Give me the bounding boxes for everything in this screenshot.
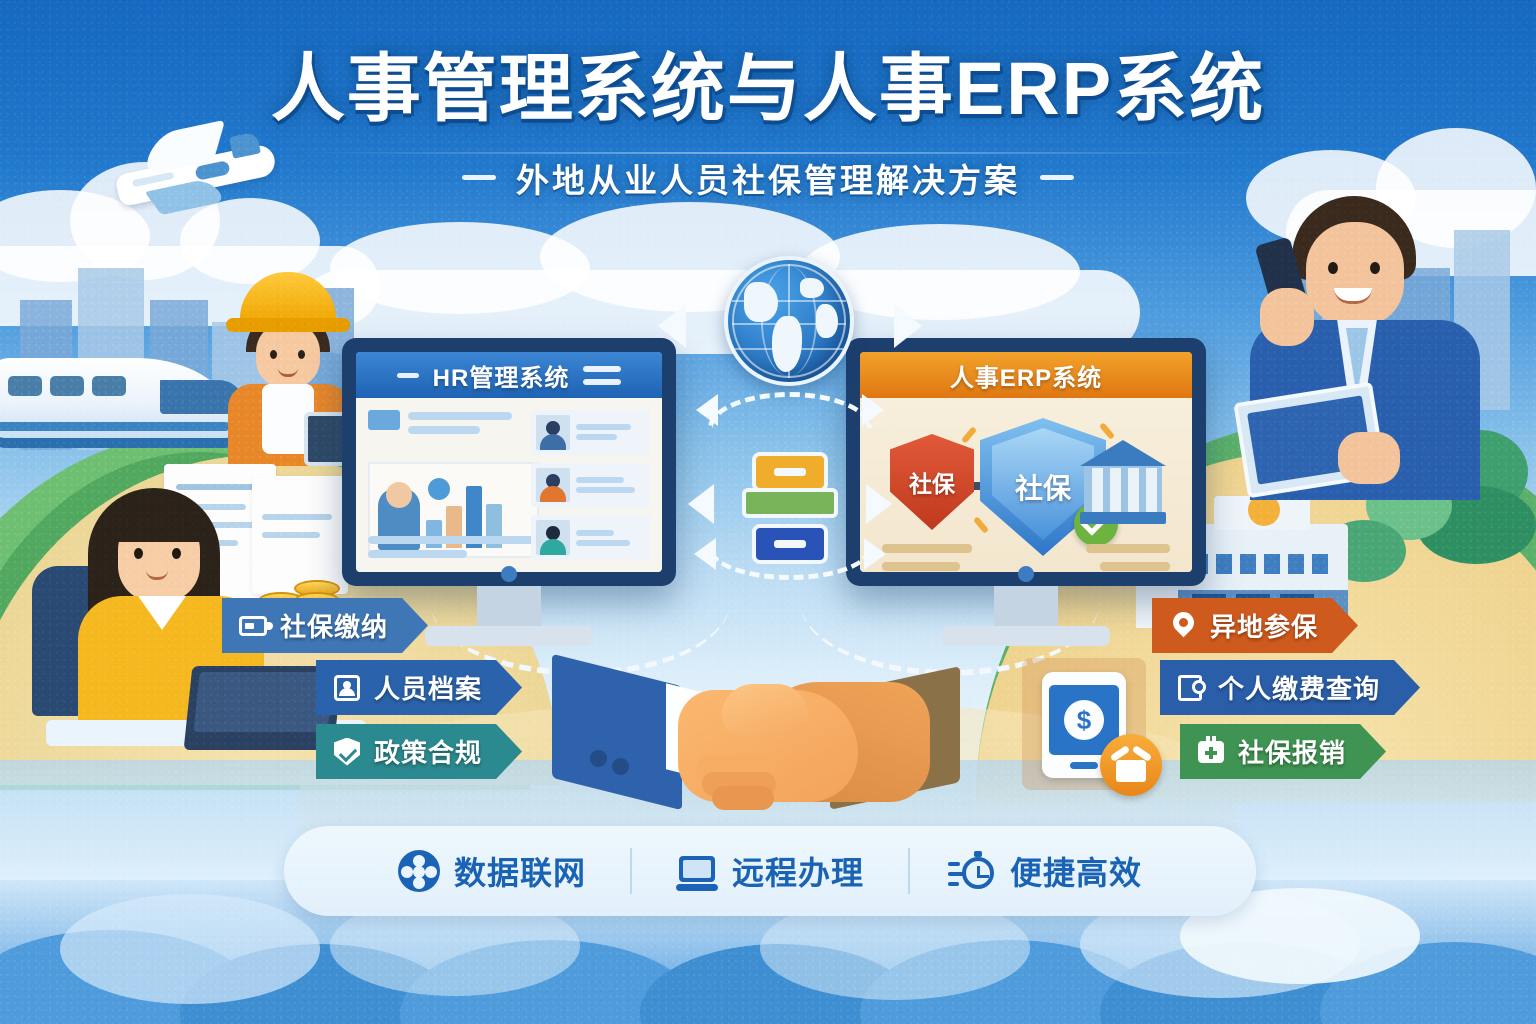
arrow-left-icon [658, 304, 686, 348]
delivery-badge-icon [1100, 734, 1162, 796]
dash-left-icon [462, 175, 496, 180]
construction-worker-figure [218, 272, 358, 462]
data-exchange-hub [690, 256, 890, 586]
high-speed-train-icon [0, 330, 250, 460]
laptop-icon [676, 850, 718, 892]
feature-bar: 数据联网 远程办理 便捷高效 [284, 826, 1256, 916]
tag-personnel-files[interactable]: 人员档案 [316, 660, 522, 715]
tag-personal-payment-query[interactable]: 个人缴费查询 [1160, 660, 1420, 715]
tag-label: 社保报销 [1238, 733, 1346, 770]
page-title: 人事管理系统与人事ERP系统 [0, 50, 1536, 128]
query-doc-icon [1176, 673, 1206, 703]
arc-dashed-bottom [708, 548, 872, 580]
feature-label: 数据联网 [454, 848, 586, 894]
tag-label: 人员档案 [374, 669, 482, 706]
person-icon [332, 673, 362, 703]
page-subtitle: 外地从业人员社保管理解决方案 [516, 154, 1020, 202]
feature-label: 便捷高效 [1010, 848, 1142, 894]
menu-icon[interactable] [583, 366, 621, 385]
tag-label: 异地参保 [1210, 607, 1318, 644]
globe-icon [724, 256, 854, 386]
tag-remote-enrollment[interactable]: 异地参保 [1152, 598, 1358, 653]
feature-item-efficient[interactable]: 便捷高效 [910, 848, 1186, 894]
bank-icon [1080, 440, 1166, 524]
shield-check-icon [332, 737, 362, 767]
handshake-icon [546, 646, 966, 836]
businessman-phone-figure [1230, 196, 1500, 496]
tag-label: 政策合规 [374, 733, 482, 770]
tag-label: 个人缴费查询 [1218, 669, 1380, 706]
monitor-erp-system[interactable]: 人事ERP系统 社保 社保 [846, 338, 1206, 586]
employee-list-item[interactable] [531, 463, 650, 508]
employee-list-item[interactable] [531, 515, 650, 560]
medical-icon [1196, 737, 1226, 767]
feature-item-remote-handling[interactable]: 远程办理 [632, 848, 908, 894]
feature-label: 远程办理 [732, 848, 864, 894]
tag-social-insurance-payment[interactable]: 社保缴纳 [222, 598, 428, 653]
feature-item-data-network[interactable]: 数据联网 [354, 848, 630, 894]
monitor-left-header: HR管理系统 [356, 352, 662, 398]
currency-symbol: $ [1064, 700, 1104, 740]
wallet-icon [238, 611, 268, 641]
arc-dashed-top [708, 392, 872, 428]
poster-canvas: HR管理系统 [0, 0, 1536, 1024]
tag-policy-compliance[interactable]: 政策合规 [316, 724, 522, 779]
shield-red-icon: 社保 [890, 434, 974, 530]
mobile-payment-icon: $ [1022, 658, 1146, 790]
tag-insurance-reimbursement[interactable]: 社保报销 [1180, 724, 1386, 779]
arrow-right-icon [894, 304, 922, 348]
location-pin-icon [1168, 611, 1198, 641]
title-block: 人事管理系统与人事ERP系统 外地从业人员社保管理解决方案 [0, 50, 1536, 202]
dash-right-icon [1040, 175, 1074, 180]
monitor-right-header: 人事ERP系统 [860, 352, 1192, 398]
monitor-right-title: 人事ERP系统 [950, 358, 1102, 393]
dash-icon [397, 373, 419, 378]
dashboard-kpi-box [368, 410, 400, 430]
monitor-left-title: HR管理系统 [433, 358, 570, 393]
network-icon [398, 850, 440, 892]
erp-dashboard: 社保 社保 [860, 398, 1192, 572]
stopwatch-icon [954, 850, 996, 892]
hr-dashboard [356, 398, 662, 572]
employee-list-item[interactable] [531, 410, 650, 455]
tag-label: 社保缴纳 [280, 607, 388, 644]
monitor-hr-system[interactable]: HR管理系统 [342, 338, 676, 586]
